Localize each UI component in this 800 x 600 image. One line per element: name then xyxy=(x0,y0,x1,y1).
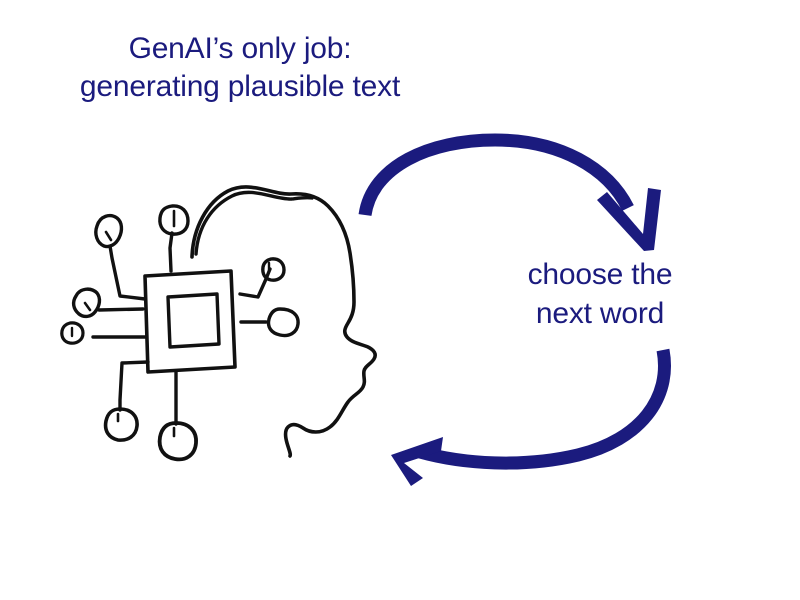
slide-canvas: GenAI’s only job: generating plausible t… xyxy=(0,0,800,600)
cycle-caption-line-2: next word xyxy=(478,294,722,333)
cycle-caption-line-1: choose the xyxy=(478,255,722,294)
cycle-caption: choose the next word xyxy=(478,255,722,333)
curved-arrow-top xyxy=(365,140,661,251)
curved-arrow-bottom xyxy=(391,350,664,486)
